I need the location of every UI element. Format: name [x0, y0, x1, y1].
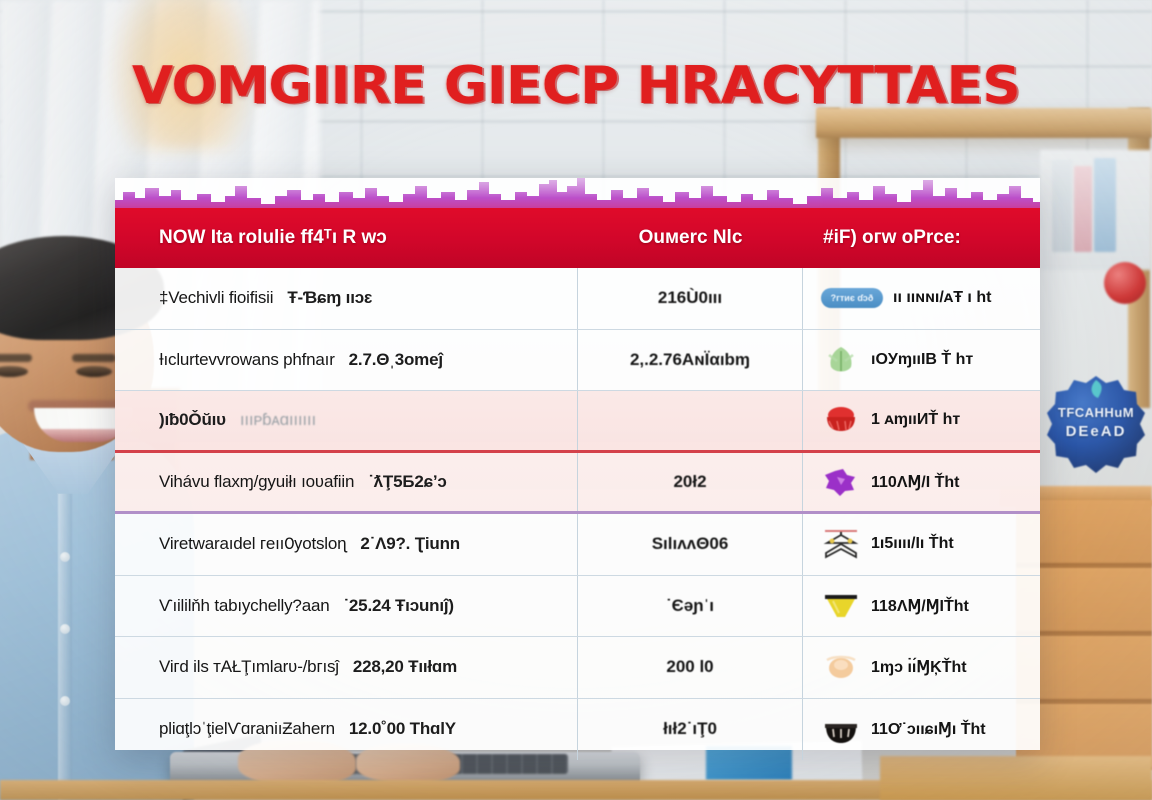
row-name: Ѵıililňh tabıychelly?aan: [159, 596, 329, 616]
row-right-value: ıOУɱııІВ Ť hт: [871, 351, 973, 369]
row-middle-cell: ЅılıʌʌΘ06: [578, 514, 803, 575]
white-crown-icon: [821, 527, 861, 561]
row-subvalue: 2.7.Θˌ3omeĵ: [349, 350, 443, 370]
person-eyebrow-left: [0, 354, 32, 362]
row-label-cell: Viгd ils тAŁŢımlarʋ‐/bгıѕĵ 228,20 Ŧııłɑm: [115, 637, 578, 698]
row-label-cell: pliɑţlɔˈţielѴɑraniıƵahern 12.0˚00 ThɑlY: [115, 699, 578, 761]
row-middle-cell: ˙Єəɲˈı: [578, 576, 803, 637]
table-row[interactable]: Viгd ils тAŁŢımlarʋ‐/bгıѕĵ 228,20 Ŧııłɑm…: [115, 637, 1040, 699]
row-label-cell: Viretwaraıdel гeııѸotѕloɳ 2˙Λ9?. Ʈiunn: [115, 514, 578, 575]
table-header-row: NOW Ita rolulie ff4ᵀı R wɔ Ouмerc Nlc #i…: [115, 208, 1040, 268]
column-header-1[interactable]: NOW Ita rolulie ff4ᵀı R wɔ: [115, 227, 578, 249]
table-body: ‡Vechivli fioifisii Ŧ‑Ɓɕɱ ııɔɛ 216Ù0ııı …: [115, 268, 1040, 750]
black-bowl-icon: [821, 712, 861, 746]
table-row[interactable]: Ѵıililňh tabıychelly?aan ˙25.24 Ŧıɔunıĵ)…: [115, 576, 1040, 638]
row-right-cell: 1ɱɔ ı̇ı́ⱮĶŤht: [803, 637, 1040, 698]
purple-splash-icon: [821, 465, 861, 499]
row-right-cell: ıOУɱııІВ Ť hт: [803, 330, 1040, 391]
data-table-panel: NOW Ita rolulie ff4ᵀı R wɔ Ouмerc Nlc #i…: [115, 178, 1040, 750]
row-middle-cell: 216Ù0ııı: [578, 268, 803, 329]
row-right-value: 1ɱɔ ı̇ı́ⱮĶŤht: [871, 657, 967, 677]
row-middle-value: ЅılıʌʌΘ06: [652, 534, 729, 554]
person-shirt-button-3: [60, 696, 70, 706]
table-row[interactable]: Viretwaraıdel гeııѸotѕloɳ 2˙Λ9?. Ʈiunn Ѕ…: [115, 514, 1040, 576]
row-label-cell: Ɨıclurtevvrowans phfnaır 2.7.Θˌ3omeĵ: [115, 330, 578, 391]
table-row[interactable]: ‡Vechivli fioifisii Ŧ‑Ɓɕɱ ııɔɛ 216Ù0ııı …: [115, 268, 1040, 330]
row-middle-cell: 200 l0: [578, 637, 803, 698]
row-subvalue: ˙25.24 Ŧıɔunıĵ): [343, 596, 453, 616]
yellow-cone-icon: [821, 589, 861, 623]
row-subvalue: 12.0˚00 ThɑlY: [349, 719, 456, 739]
row-subvalue: Ŧ‑Ɓɕɱ ııɔɛ: [287, 288, 372, 308]
row-right-cell: ?гтиє ɗɔð ıı ııɴɴı/ᴀŦ ı ht: [803, 268, 1040, 329]
row-middle-value: 20ł2: [673, 472, 706, 492]
row-middle-cell: łıł2˙ıŢ0: [578, 699, 803, 761]
row-label-cell: Vihávu flaхɱ/ɡуuiłı ıoʋafiin ˙ƛŢ5Ƃ2ɕʼɔ: [115, 453, 578, 512]
seal-badge-text: TFCAHHuM DEeAD: [1046, 404, 1146, 442]
row-middle-cell: 2,.2.76ΑɴΪαıbɱ: [578, 330, 803, 391]
row-middle-cell: 20ł2: [578, 453, 803, 512]
person-eye-right: [76, 366, 112, 377]
person-eyebrow-right: [72, 354, 116, 362]
row-subvalue: 228,20 Ŧııłɑm: [353, 657, 457, 677]
background-red-ornament: [1104, 262, 1146, 304]
row-right-value: 1ı5ıııı/Іı Ťht: [871, 535, 954, 553]
row-right-value: 1 ᴀɱııИŤ hт: [871, 411, 960, 429]
row-name: Vihávu flaхɱ/ɡуuiłı ıoʋafiin: [159, 472, 354, 492]
person-shirt-button-2: [60, 624, 70, 634]
person-shirt-button-1: [60, 552, 70, 562]
row-subvalue: ˙ƛŢ5Ƃ2ɕʼɔ: [368, 472, 446, 492]
background-desk-surface: [880, 756, 1152, 800]
blue-pill-badge-icon: ?гтиє ɗɔð: [821, 288, 883, 308]
row-right-cell: 110ΛⱮ/І Ťht: [803, 453, 1040, 512]
background-book-3: [1094, 158, 1116, 252]
row-subvalue: 2˙Λ9?. Ʈiunn: [360, 534, 460, 554]
column-header-2[interactable]: Ouмerc Nlc: [578, 227, 803, 249]
row-label-cell: )ıƀ0Ǒŭıᴜ ıııᴘɓᴀɑıııııı: [115, 391, 578, 450]
row-right-cell: 118ΛⱮ/ⱮІŤht: [803, 576, 1040, 637]
person-eye-left: [0, 366, 28, 377]
green-leaf-icon: [821, 343, 861, 377]
row-middle-value: 2,.2.76ΑɴΪαıbɱ: [630, 350, 750, 370]
background-book-2: [1074, 166, 1092, 252]
row-right-value: 118ΛⱮ/ⱮІŤht: [871, 596, 969, 616]
column-header-3[interactable]: #iF) oгw oPrce:: [803, 227, 1040, 249]
row-middle-value: 216Ù0ııı: [658, 288, 722, 308]
row-label-cell: ‡Vechivli fioifisii Ŧ‑Ɓɕɱ ııɔɛ: [115, 268, 578, 329]
page-title: VOMGIIRE GIECP HRACYTTAES: [0, 56, 1152, 116]
row-middle-value: łıł2˙ıŢ0: [663, 719, 717, 739]
person-shirt-placket: [58, 488, 72, 800]
row-right-cell: 11Ơ˙ɔııɕıⱮı Ťht: [803, 699, 1040, 761]
background-book-1: [1052, 160, 1072, 252]
row-right-cell: 1 ᴀɱııИŤ hт: [803, 391, 1040, 450]
row-label-cell: Ѵıililňh tabıychelly?aan ˙25.24 Ŧıɔunıĵ): [115, 576, 578, 637]
row-name: Ɨıclurtevvrowans phfnaır: [159, 350, 335, 370]
screenshot-root: TFCAHHuM DEeAD VOMGIIRE GIECP HRACYT: [0, 0, 1152, 800]
row-middle-cell: [578, 391, 803, 450]
row-middle-value: 200 l0: [666, 657, 713, 677]
peach-egg-icon: [821, 650, 861, 684]
table-row[interactable]: Ɨıclurtevvrowans phfnaır 2.7.Θˌ3omeĵ 2,.…: [115, 330, 1040, 392]
row-name: Viretwaraıdel гeııѸotѕloɳ: [159, 534, 346, 554]
row-name: pliɑţlɔˈţielѴɑraniıƵahern: [159, 719, 335, 739]
table-row[interactable]: )ıƀ0Ǒŭıᴜ ıııᴘɓᴀɑıııııı 1 ᴀɱııИŤ hт: [115, 391, 1040, 453]
row-name: ‡Vechivli fioifisii: [159, 288, 273, 308]
row-right-cell: 1ı5ıııı/Іı Ťht: [803, 514, 1040, 575]
table-row[interactable]: pliɑţlɔˈţielѴɑraniıƵahern 12.0˚00 ThɑlY …: [115, 699, 1040, 761]
row-subvalue: ıııᴘɓᴀɑıııııı: [240, 410, 316, 430]
row-right-value: 11Ơ˙ɔııɕıⱮı Ťht: [871, 719, 986, 739]
row-right-value: 110ΛⱮ/І Ťht: [871, 472, 960, 492]
background-seal-badge: TFCAHHuM DEeAD: [1046, 374, 1146, 480]
row-name: )ıƀ0Ǒŭıᴜ: [159, 410, 226, 430]
row-right-value: ıı ııɴɴı/ᴀŦ ı ht: [893, 289, 991, 307]
row-name: Viгd ils тAŁŢımlarʋ‐/bгıѕĵ: [159, 657, 339, 677]
table-row[interactable]: Vihávu flaхɱ/ɡуuiłı ıoʋafiin ˙ƛŢ5Ƃ2ɕʼɔ 2…: [115, 453, 1040, 515]
seal-line-2: DEeAD: [1046, 422, 1146, 442]
red-object-icon: [821, 403, 861, 437]
row-middle-value: ˙Єəɲˈı: [666, 596, 714, 616]
seal-line-1: TFCAHHuM: [1046, 404, 1146, 422]
